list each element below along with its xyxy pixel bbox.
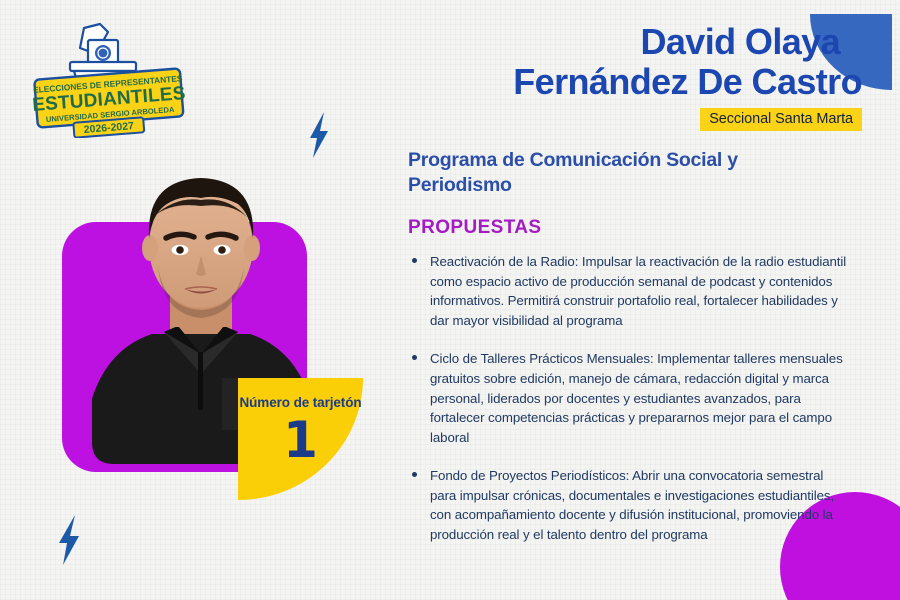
- bullet-icon: [412, 258, 417, 263]
- proposal-text: Fondo de Proyectos Periodísticos: Abrir …: [430, 468, 834, 542]
- proposal-text: Reactivación de la Radio: Impulsar la re…: [430, 254, 846, 328]
- proposal-text: Ciclo de Talleres Prácticos Mensuales: I…: [430, 351, 843, 444]
- list-item: Fondo de Proyectos Periodísticos: Abrir …: [408, 466, 848, 544]
- seccional-badge: Seccional Santa Marta: [700, 108, 862, 131]
- proposals-list: Reactivación de la Radio: Impulsar la re…: [408, 252, 848, 544]
- content-column: David Olaya Fernández De Castro Secciona…: [372, 22, 872, 544]
- list-item: Ciclo de Talleres Prácticos Mensuales: I…: [408, 349, 848, 447]
- election-badge: ELECCIONES DE REPRESENTANTES ESTUDIANTIL…: [22, 18, 197, 138]
- ballot-number-digit: 1: [283, 416, 318, 465]
- campaign-poster: ELECCIONES DE REPRESENTANTES ESTUDIANTIL…: [0, 0, 900, 600]
- ballot-number-badge: Número de tarjetón 1: [238, 378, 363, 500]
- candidate-name: David Olaya Fernández De Castro: [372, 22, 872, 101]
- ballot-number-label: Número de tarjetón: [240, 395, 362, 411]
- lightning-bolt-icon: [306, 112, 332, 158]
- bullet-icon: [412, 355, 417, 360]
- candidate-name-line-1: David Olaya: [372, 22, 862, 62]
- program-title: Programa de Comunicación Social y Period…: [408, 148, 808, 197]
- bullet-icon: [412, 472, 417, 477]
- list-item: Reactivación de la Radio: Impulsar la re…: [408, 252, 848, 330]
- candidate-name-line-2: Fernández De Castro: [372, 62, 862, 102]
- proposals-heading: PROPUESTAS: [408, 217, 872, 239]
- lightning-bolt-icon: [55, 515, 83, 565]
